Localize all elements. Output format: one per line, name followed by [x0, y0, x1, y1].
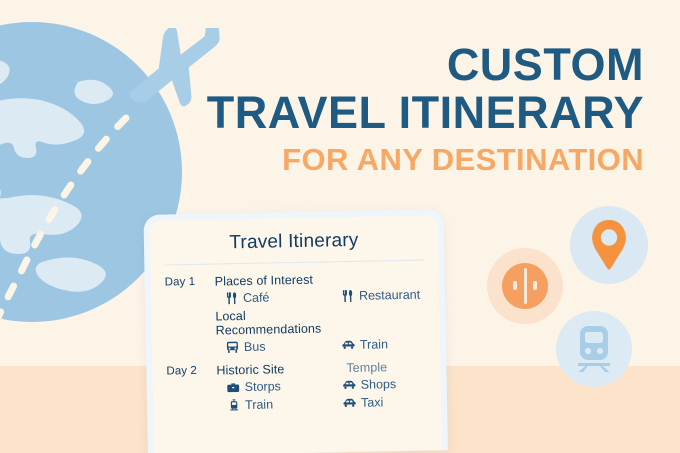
section-heading: Historic Site: [216, 361, 346, 377]
compass-badge: [487, 248, 563, 324]
section-heading-row: Local Recommendations: [215, 305, 439, 337]
compass-needle: [524, 268, 527, 304]
item-row: Bus Train: [216, 336, 440, 354]
list-item[interactable]: Storps: [217, 378, 343, 394]
day-label: Day 1: [165, 275, 215, 289]
tram-icon: [227, 399, 240, 412]
compass-dot-left: [513, 281, 517, 290]
briefcase-icon: [227, 381, 240, 394]
compass-icon: [502, 263, 548, 309]
headline-line-2: TRAVEL ITINERARY: [204, 90, 644, 136]
bus-icon: [226, 341, 239, 354]
train-front-icon: [343, 378, 356, 391]
list-item-label: Taxi: [361, 395, 383, 409]
list-item[interactable]: Train: [217, 396, 343, 412]
section-heading-row: Places of Interest: [215, 270, 439, 288]
headline-block: CUSTOM TRAVEL ITINERARY FOR ANY DESTINAT…: [204, 42, 644, 178]
location-pin-badge: [570, 206, 648, 284]
restaurant-cutlery-icon: [225, 292, 238, 305]
itinerary-card-body: Travel Itinerary Day 1 Places of Interes…: [150, 215, 442, 453]
list-item-label: Storps: [245, 379, 281, 394]
list-item-label: Train: [360, 337, 388, 352]
item-row: Storps Shops: [217, 376, 441, 394]
list-item[interactable]: Restaurant: [341, 288, 420, 304]
list-item[interactable]: Train: [342, 337, 388, 352]
item-row: Café Restaurant: [215, 287, 439, 305]
train-front-icon: [342, 338, 355, 351]
day-content: Places of Interest Café: [215, 270, 441, 358]
list-item[interactable]: Café: [215, 289, 341, 305]
item-row: Train Taxi: [217, 394, 441, 412]
train-badge: [556, 311, 632, 387]
itinerary-rows: Day 1 Places of Interest Café: [150, 260, 441, 418]
poster-canvas: CUSTOM TRAVEL ITINERARY FOR ANY DESTINAT…: [0, 0, 680, 453]
list-item-label: Bus: [244, 340, 266, 354]
list-item[interactable]: Shops: [343, 377, 397, 392]
compass-dot-right: [533, 281, 537, 290]
headline-line-3: FOR ANY DESTINATION: [204, 142, 644, 178]
restaurant-cutlery-icon: [341, 289, 354, 302]
list-item[interactable]: Bus: [216, 338, 342, 354]
list-item-label: Café: [243, 291, 270, 306]
day-block: Day 1 Places of Interest Café: [151, 270, 441, 360]
card-title: Travel Itinerary: [150, 215, 439, 256]
list-item[interactable]: Taxi: [343, 395, 383, 410]
section-heading: Places of Interest: [215, 272, 345, 288]
list-item-label: Restaurant: [359, 288, 420, 303]
section-heading: Local Recommendations: [215, 307, 346, 337]
list-item-label: Shops: [361, 377, 397, 392]
map-pin-icon: [589, 219, 629, 271]
day-content: Historic Site Temple Storps: [216, 359, 441, 416]
section-heading-row: Historic Site Temple: [216, 359, 440, 377]
list-item-label: Train: [245, 397, 273, 412]
day-label: Day 2: [166, 364, 216, 378]
taxi-icon: [343, 396, 356, 409]
train-icon: [572, 325, 616, 373]
headline-line-1: CUSTOM: [204, 42, 644, 88]
section-heading-right: Temple: [346, 360, 387, 375]
itinerary-card: Travel Itinerary Day 1 Places of Interes…: [143, 209, 448, 453]
day-block: Day 2 Historic Site Temple Storps: [152, 359, 441, 418]
